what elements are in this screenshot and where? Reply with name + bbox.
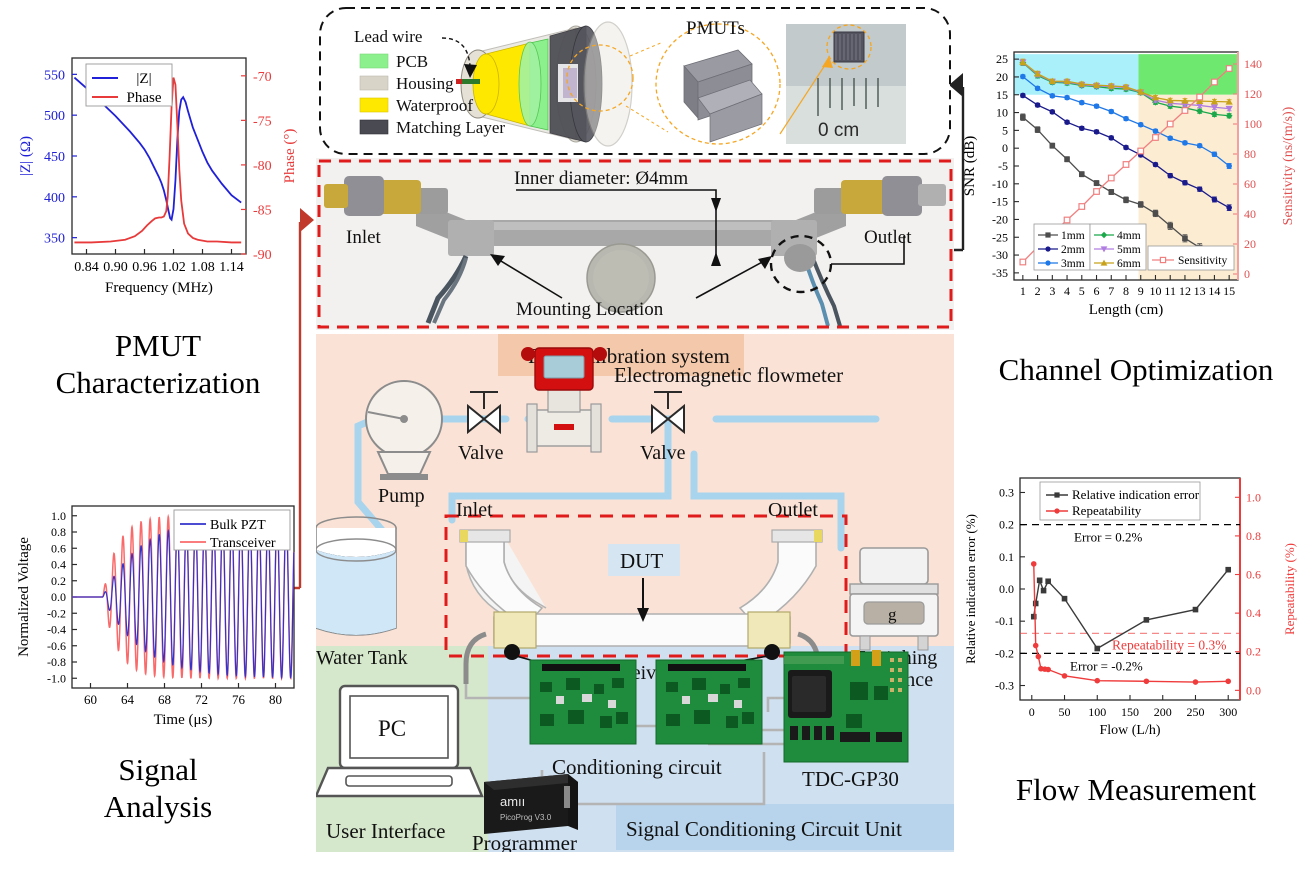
- channel-ytick: -30: [992, 248, 1008, 262]
- channel-xtick: 7: [1108, 284, 1114, 298]
- signal-xtick: 80: [269, 692, 282, 707]
- signal-analysis-line1: Signal: [8, 752, 308, 789]
- channel-xtick: 8: [1123, 284, 1129, 298]
- channel-xtick: 13: [1194, 284, 1206, 298]
- channel-xtick: 9: [1138, 284, 1144, 298]
- flow-xlabel: Flow (L/h): [1099, 723, 1160, 738]
- conditioning-board-2: [656, 660, 762, 744]
- signal-ylabel: Normalized Voltage: [16, 537, 32, 657]
- signal-xtick: 72: [195, 692, 208, 707]
- signal-ytick: -0.4: [47, 623, 66, 637]
- impedance-ytick: 550: [44, 68, 65, 83]
- flow-annotation-text: Repeatability = 0.3%: [1112, 637, 1226, 652]
- dut-label: DUT: [620, 549, 663, 573]
- flow-ytick: -0.2: [995, 646, 1014, 660]
- channel-y2tick: 100: [1244, 117, 1262, 131]
- impedance-ylabel: |Z| (Ω): [18, 136, 34, 176]
- inner-diameter-label: Inner diameter: Ø4mm: [514, 168, 688, 189]
- channel-xtick: 11: [1164, 284, 1176, 298]
- pmut-characterization-line1: PMUT: [8, 328, 308, 365]
- signal-ytick: -0.6: [47, 639, 66, 653]
- water-tank-illustration: [316, 517, 396, 635]
- conditioning-circuit-label: Conditioning circuit: [552, 755, 722, 779]
- impedance-y2tick: -75: [253, 114, 272, 129]
- flow-y2tick: 0.0: [1246, 683, 1261, 697]
- signal-xtick: 64: [121, 692, 135, 707]
- flow-annotation-text: Error = 0.2%: [1074, 530, 1143, 545]
- pmut-characterization-line2: Characterization: [8, 365, 308, 402]
- signal-ytick: 0.0: [51, 590, 66, 604]
- valve-right-label: Valve: [640, 442, 686, 464]
- impedance-y2tick: -85: [253, 203, 272, 218]
- conditioning-board-1: [530, 660, 636, 744]
- impedance-legend-item: Phase: [127, 90, 162, 106]
- channel-ytick: 10: [996, 106, 1008, 120]
- signal-ytick: -0.8: [47, 655, 66, 669]
- pmut-schematic-panel: Lead wire PCB Housing Waterproof Matchin…: [318, 6, 952, 156]
- channel-xlabel: Length (cm): [1089, 302, 1164, 318]
- flow-y2tick: 0.8: [1246, 529, 1261, 543]
- pipe-outlet-label: Outlet: [864, 227, 912, 248]
- channel-ytick: 25: [996, 52, 1008, 66]
- flow-calibration-system-panel: Flow calibration system Pump Valve: [316, 334, 954, 852]
- channel-optimization-chart: 123456789101112131415-35-30-25-20-15-10-…: [962, 32, 1312, 332]
- signal-legend-item: Transceiver: [210, 536, 276, 551]
- flow-y2tick: 0.2: [1246, 645, 1261, 659]
- channel-y2tick: 60: [1244, 177, 1256, 191]
- pc-label: PC: [378, 716, 406, 741]
- channel-y2tick: 0: [1244, 267, 1250, 281]
- flow-xtick: 300: [1219, 705, 1237, 719]
- impedance-xtick: 0.96: [132, 260, 157, 275]
- signal-ytick: 0.2: [51, 574, 66, 588]
- flow-ytick: 0.3: [999, 485, 1014, 499]
- channel-ytick: -5: [998, 159, 1008, 173]
- impedance-xtick: 1.14: [219, 260, 244, 275]
- signal-legend: Bulk PZTTransceiver: [174, 510, 290, 551]
- channel-y2tick: 80: [1244, 147, 1256, 161]
- channel-ytick: -15: [992, 195, 1008, 209]
- signal-xtick: 68: [158, 692, 171, 707]
- signal-ytick: 1.0: [51, 509, 66, 523]
- channel-xtick: 6: [1094, 284, 1100, 298]
- mounting-location-label: Mounting Location: [516, 299, 664, 320]
- lead-wire-label: Lead wire: [354, 27, 422, 46]
- page-title-signal-analysis: Signal Analysis: [8, 752, 308, 825]
- impedance-chart: 0.840.900.961.021.081.14350400450500550-…: [14, 42, 304, 314]
- flowmeter-label: Electromagnetic flowmeter: [614, 363, 843, 387]
- flow-xtick: 100: [1088, 705, 1106, 719]
- flow-ytick: -0.3: [995, 679, 1014, 693]
- signal-ytick: 0.8: [51, 525, 66, 539]
- channel-legend-item: 1mm: [1061, 230, 1085, 242]
- weighing-balance-illustration: g: [850, 548, 938, 650]
- flow-annotation-text: Error = -0.2%: [1070, 658, 1143, 673]
- impedance-ytick: 450: [44, 150, 65, 165]
- signal-ytick: -1.0: [47, 671, 66, 685]
- pipe-photo-panel: Inlet Outlet Inner diameter: Ø4mm Mounti…: [316, 158, 954, 330]
- dut-outlet-label: Outlet: [768, 499, 818, 521]
- signal-unit-label: Signal Conditioning Circuit Unit: [626, 817, 902, 841]
- channel-xtick: 1: [1020, 284, 1026, 298]
- channel-ytick: 20: [996, 70, 1008, 84]
- flow-y2tick: 0.4: [1246, 606, 1261, 620]
- flow-measurement-chart: 050100150200250300-0.3-0.2-0.10.00.10.20…: [962, 462, 1312, 752]
- impedance-xtick: 0.84: [74, 260, 99, 275]
- tdc-board-illustration: [784, 650, 908, 762]
- svg-text:PCB: PCB: [396, 52, 428, 71]
- page-title-flow-measurement: Flow Measurement: [960, 772, 1312, 809]
- scale-label: 0 cm: [818, 120, 859, 141]
- flow-y2tick: 0.6: [1246, 568, 1261, 582]
- impedance-legend-item: |Z|: [136, 71, 151, 87]
- channel-ytick: -10: [992, 177, 1008, 191]
- signal-xtick: 76: [232, 692, 246, 707]
- signal-analysis-line2: Analysis: [8, 789, 308, 826]
- channel-xtick: 2: [1035, 284, 1041, 298]
- signal-ytick: 0.4: [51, 558, 66, 572]
- programmer-illustration: amıı PicoProg V3.0: [484, 774, 578, 834]
- flow-xtick: 0: [1029, 705, 1035, 719]
- programmer-label: Programmer: [472, 831, 577, 852]
- svg-text:PicoProg V3.0: PicoProg V3.0: [500, 813, 552, 822]
- svg-text:g: g: [888, 605, 897, 624]
- tdc-label: TDC-GP30: [802, 767, 899, 791]
- signal-legend-item: Bulk PZT: [210, 518, 266, 533]
- flow-xtick: 250: [1186, 705, 1204, 719]
- svg-text:amıı: amıı: [500, 794, 525, 809]
- page-title-pmut-characterization: PMUT Characterization: [8, 328, 308, 401]
- valve-left-label: Valve: [458, 442, 504, 464]
- flow-legend-item: Relative indication error: [1072, 487, 1200, 502]
- channel-xtick: 14: [1208, 284, 1220, 298]
- channel-y2label: Sensitivity (ns/(m/s)): [1281, 106, 1296, 225]
- signal-ytick: 0.6: [51, 541, 66, 555]
- channel-xtick: 15: [1223, 284, 1235, 298]
- channel-xtick: 3: [1049, 284, 1055, 298]
- channel-xtick: 5: [1079, 284, 1085, 298]
- impedance-y2tick: -70: [253, 70, 272, 85]
- channel-y2tick: 140: [1244, 57, 1262, 71]
- channel-legend-item: Sensitivity: [1178, 255, 1227, 267]
- user-interface-label: User Interface: [326, 819, 446, 843]
- flow-legend: Relative indication errorRepeatability: [1040, 482, 1200, 520]
- water-tank-label: Water Tank: [316, 647, 408, 669]
- dut-inlet-label: Inlet: [456, 499, 493, 521]
- flow-ytick: -0.1: [995, 614, 1014, 628]
- signal-xlabel: Time (μs): [154, 712, 213, 728]
- flow-xtick: 50: [1059, 705, 1071, 719]
- impedance-ytick: 350: [44, 232, 65, 247]
- channel-legend-item: 6mm: [1117, 258, 1141, 270]
- svg-text:Matching Layer: Matching Layer: [396, 118, 505, 137]
- channel-legend-item: 5mm: [1117, 244, 1141, 256]
- flow-ytick: 0.2: [999, 518, 1014, 532]
- flow-y2tick: 1.0: [1246, 490, 1261, 504]
- flow-xtick: 150: [1121, 705, 1139, 719]
- channel-ytick: 5: [1002, 123, 1008, 137]
- impedance-y2tick: -80: [253, 159, 272, 174]
- channel-y2tick: 20: [1244, 237, 1256, 251]
- channel-y2tick: 120: [1244, 87, 1262, 101]
- pump-label: Pump: [378, 485, 425, 507]
- flow-y2label: Repeatability (%): [1282, 543, 1297, 635]
- channel-xtick: 12: [1179, 284, 1191, 298]
- channel-ytick: -20: [992, 212, 1008, 226]
- impedance-y2label: Phase (°): [282, 129, 298, 184]
- impedance-xtick: 1.08: [190, 260, 215, 275]
- impedance-xtick: 1.02: [161, 260, 186, 275]
- channel-ytick: 15: [996, 88, 1008, 102]
- pmut-photo-inset: 0 cm: [780, 24, 906, 144]
- pmuts-label: PMUTs: [686, 18, 745, 39]
- channel-ylabel: SNR (dB): [962, 136, 978, 196]
- signal-xtick: 60: [84, 692, 97, 707]
- flow-ytick: 0.1: [999, 550, 1014, 564]
- signal-chart: 606468727680-1.0-0.8-0.6-0.4-0.20.00.20.…: [14, 492, 306, 742]
- channel-legend-item: 3mm: [1061, 258, 1085, 270]
- impedance-legend: |Z|Phase: [86, 64, 172, 106]
- channel-y2tick: 40: [1244, 207, 1256, 221]
- impedance-ytick: 400: [44, 191, 65, 206]
- impedance-ytick: 500: [44, 109, 65, 124]
- channel-xtick: 4: [1064, 284, 1070, 298]
- impedance-y2tick: -90: [253, 248, 272, 263]
- page-title-channel-optimization: Channel Optimization: [960, 352, 1312, 389]
- impedance-xtick: 0.90: [103, 260, 128, 275]
- svg-text:Waterproof: Waterproof: [396, 96, 473, 115]
- flow-legend-item: Repeatability: [1072, 503, 1142, 518]
- channel-xtick: 10: [1149, 284, 1161, 298]
- impedance-xlabel: Frequency (MHz): [105, 280, 213, 296]
- signal-ytick: -0.2: [47, 606, 66, 620]
- flow-ylabel: Relative indication error (%): [963, 514, 978, 664]
- channel-legend-item: 2mm: [1061, 244, 1085, 256]
- pc-illustration: [316, 686, 482, 796]
- svg-text:Housing: Housing: [396, 74, 454, 93]
- channel-legend-item: 4mm: [1117, 230, 1141, 242]
- channel-ytick: 0: [1002, 141, 1008, 155]
- channel-ytick: -35: [992, 266, 1008, 280]
- flow-ytick: 0.0: [999, 582, 1014, 596]
- channel-ytick: -25: [992, 230, 1008, 244]
- flow-xtick: 200: [1154, 705, 1172, 719]
- pipe-inlet-label: Inlet: [346, 227, 382, 248]
